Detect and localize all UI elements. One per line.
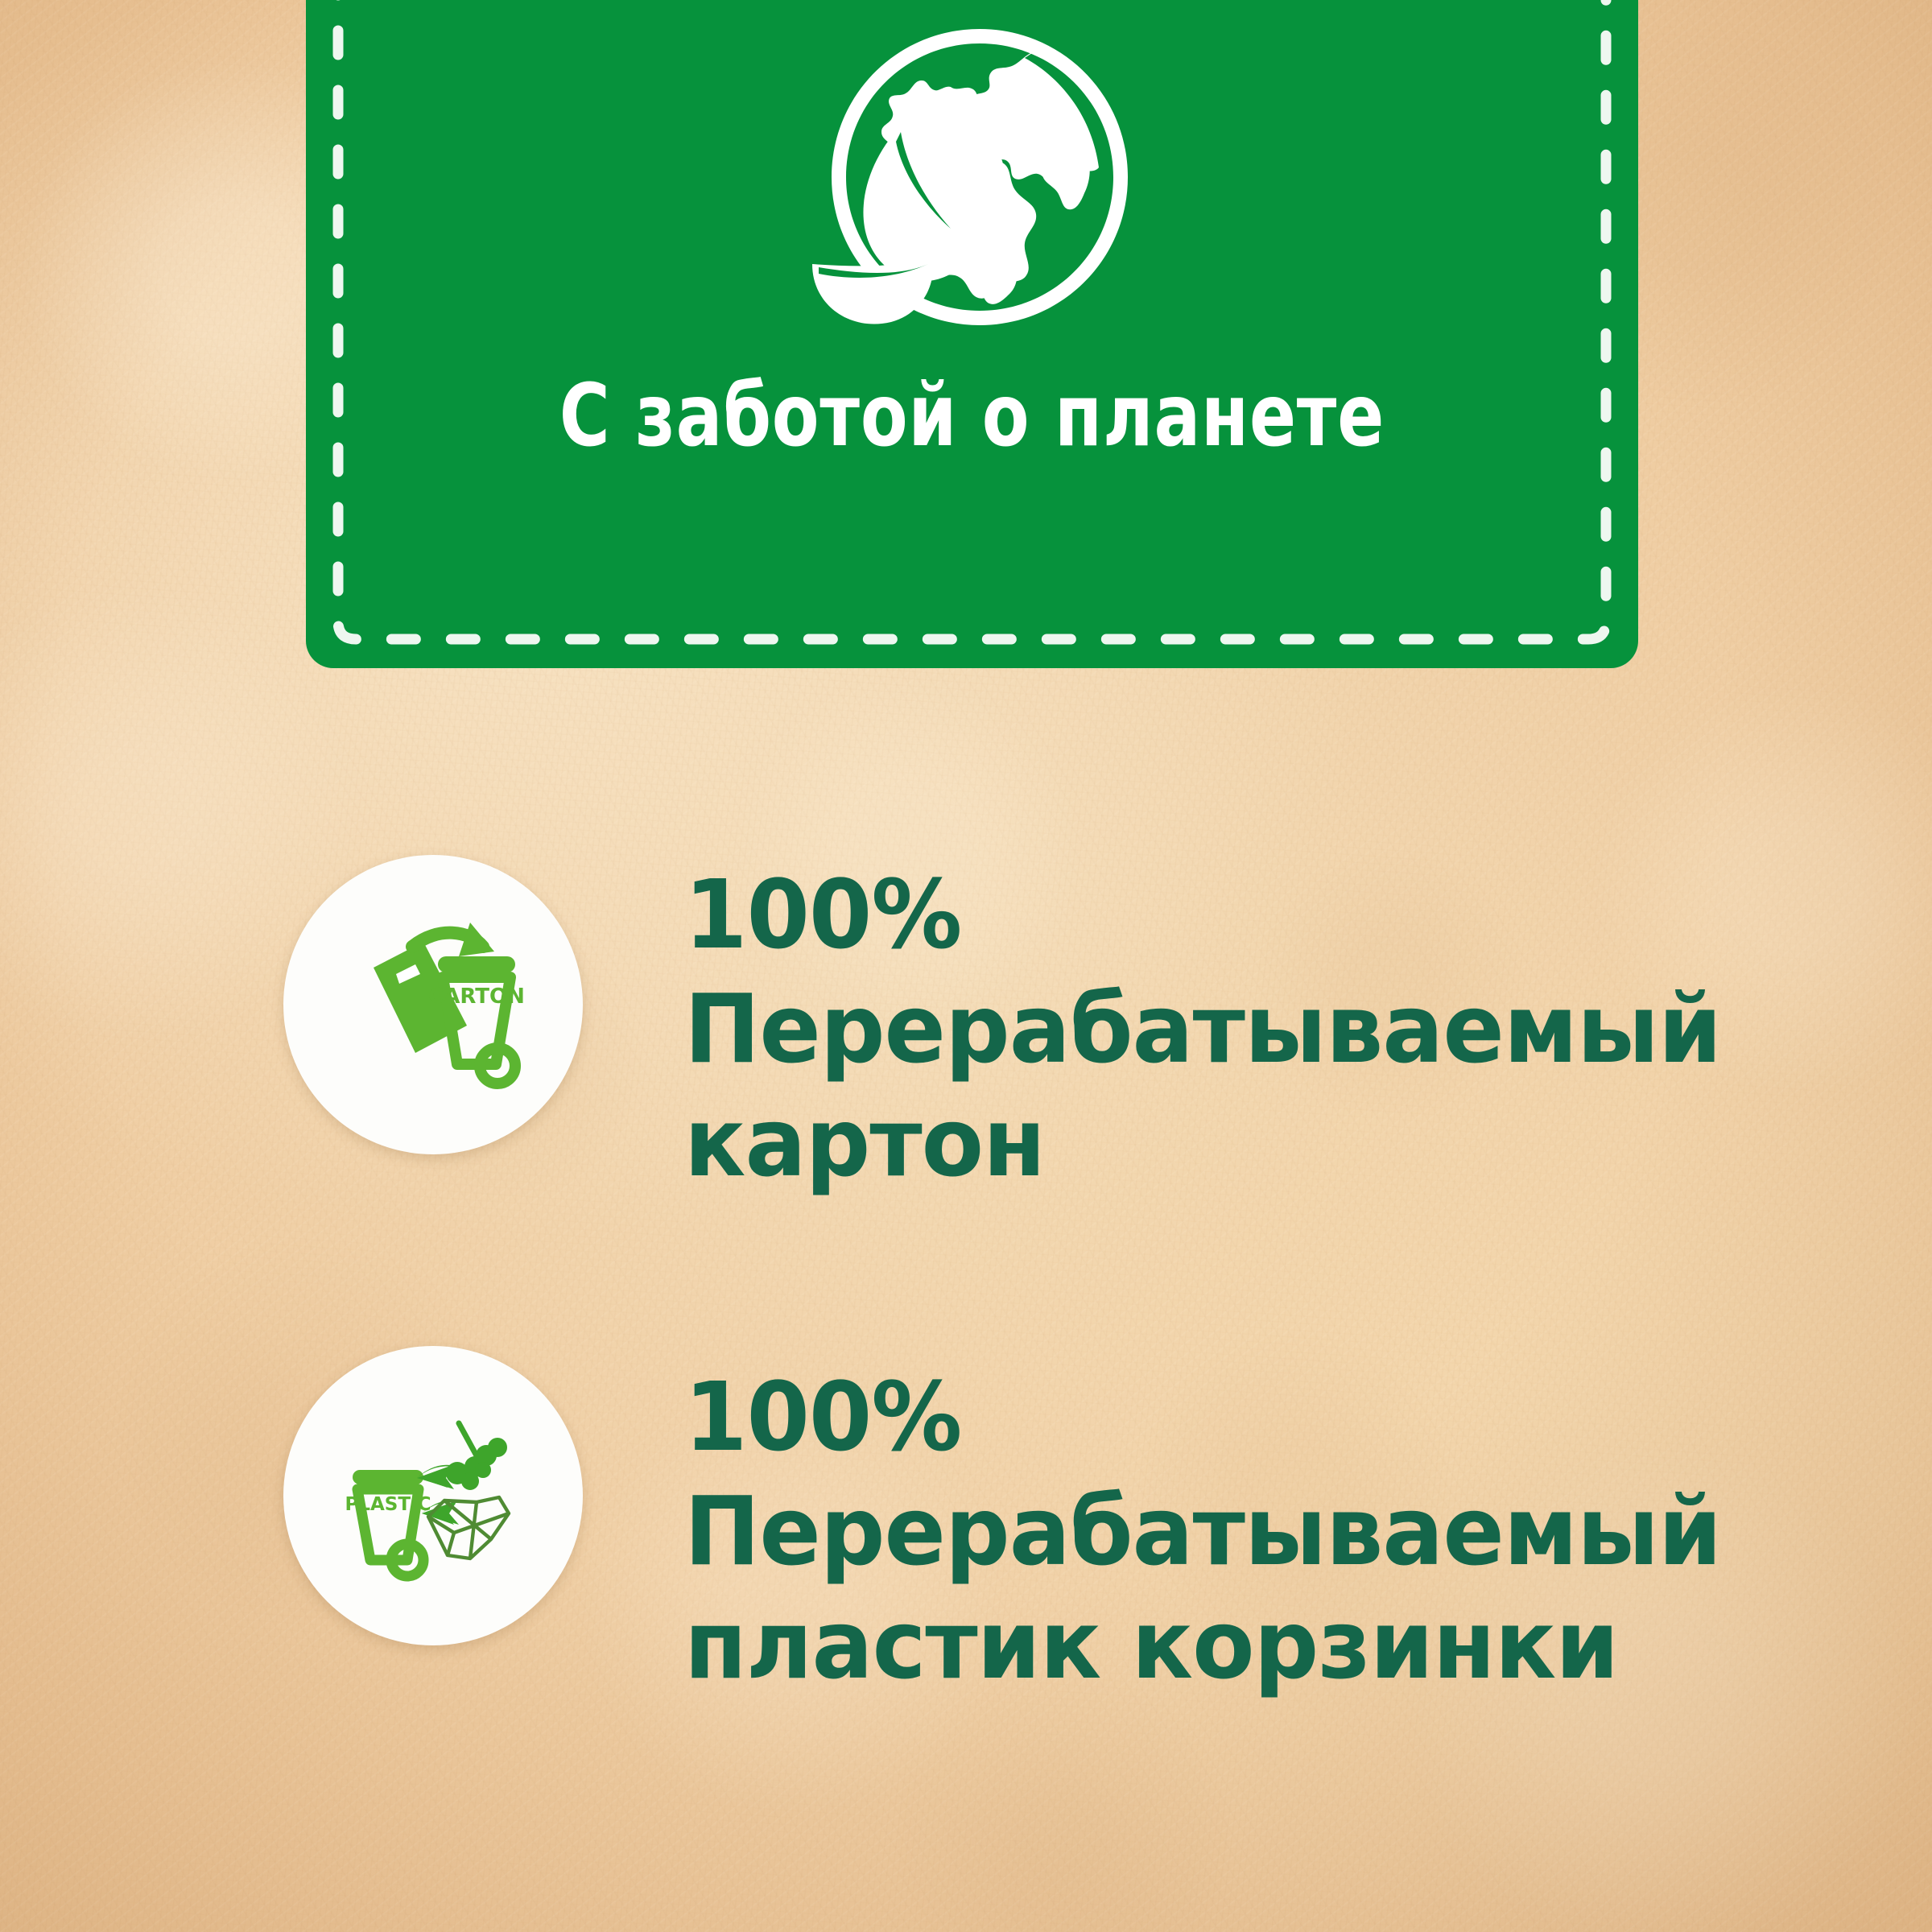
feature-row-plastic: PLASTIC (283, 1346, 1770, 1703)
carton-recycling-bin-icon: CARTON (332, 903, 535, 1106)
earth-globe-with-leaves-icon (799, 23, 1146, 345)
plastic-badge: PLASTIC (283, 1346, 583, 1645)
promo-page: С заботой о планете CARTON (0, 0, 1932, 1932)
carton-line2: картон (684, 1087, 1045, 1198)
plastic-recycling-bin-icon: PLASTIC (332, 1394, 535, 1597)
plastic-line2: пластик корзинки (684, 1589, 1618, 1700)
feature-row-carton: CARTON 100% Перерабатываемый картон (283, 855, 1770, 1200)
eco-banner: С заботой о планете (306, 0, 1638, 668)
carton-feature-text: 100% Перерабатываемый картон (684, 855, 1721, 1200)
plastic-percent: 100% (684, 1361, 961, 1472)
carton-bin-label: CARTON (428, 985, 525, 1009)
carton-line1: Перерабатываемый (684, 973, 1721, 1084)
plastic-bin-label: PLASTIC (345, 1494, 431, 1515)
carton-badge: CARTON (283, 855, 583, 1154)
banner-title: С заботой о планете (440, 366, 1505, 466)
plastic-line1: Перерабатываемый (684, 1476, 1721, 1587)
globe-logo-wrap (306, 23, 1638, 345)
plastic-feature-text: 100% Перерабатываемый пластик корзинки (684, 1346, 1721, 1703)
carton-percent: 100% (684, 859, 961, 970)
